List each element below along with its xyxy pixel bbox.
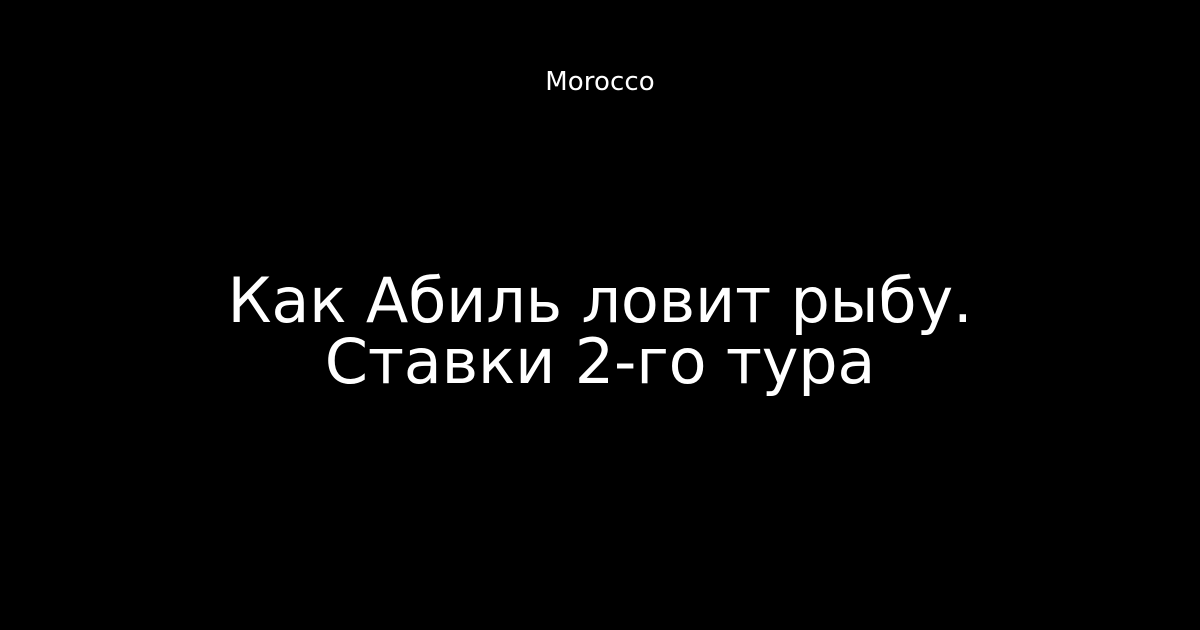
headline-container: Как Абиль ловит рыбу. Ставки 2-го тура [0, 228, 1200, 433]
article-preview-card: Morocco Как Абиль ловит рыбу. Ставки 2-г… [0, 0, 1200, 630]
category-label[interactable]: Morocco [545, 66, 655, 98]
category-container: Morocco [0, 66, 1200, 98]
page-title: Как Абиль ловит рыбу. Ставки 2-го тура [135, 270, 1065, 392]
